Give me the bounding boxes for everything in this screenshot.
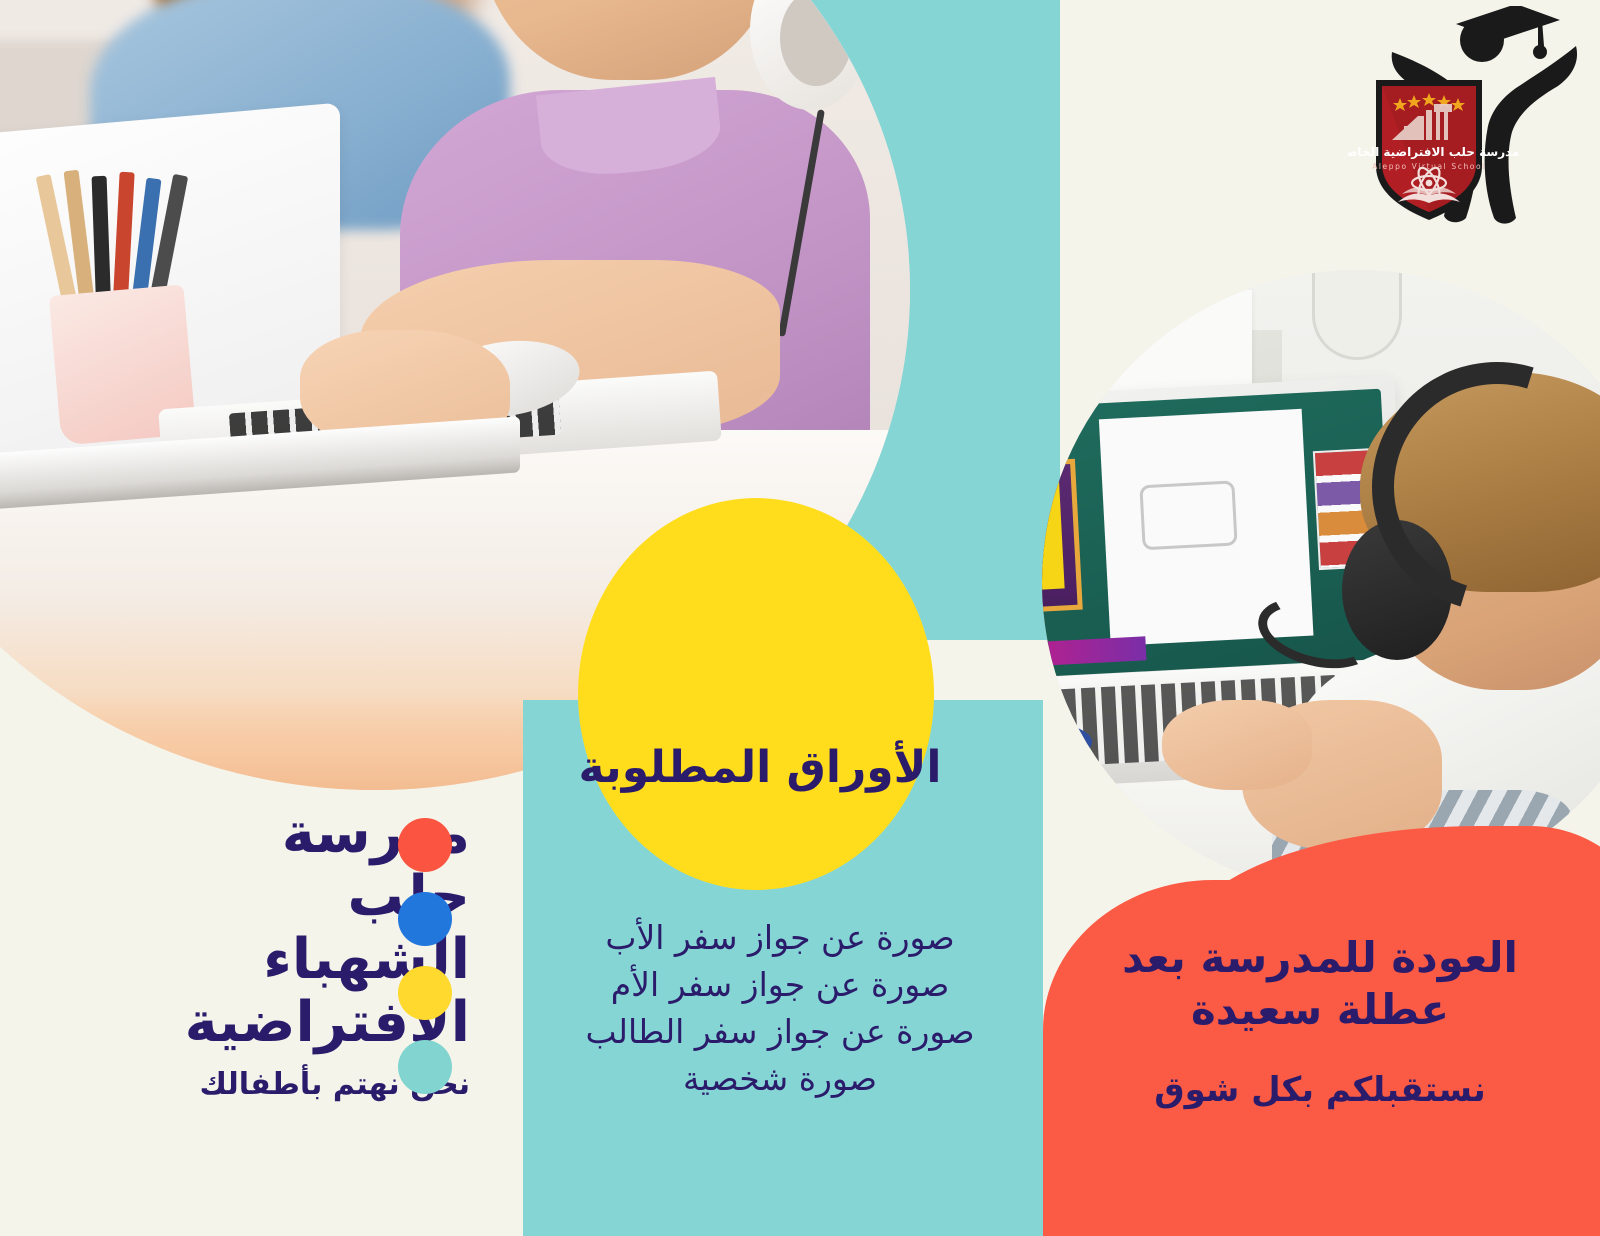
list-item: صورة شخصية <box>540 1056 1020 1103</box>
dot-blue <box>398 892 452 946</box>
dot-teal <box>398 1040 452 1094</box>
photo-right-screen-strip <box>1042 636 1147 670</box>
photo-right-lamp <box>1312 270 1402 360</box>
poster-canvas: مدرسة حلب الافتراضية الخاصة Aleppo Virtu… <box>0 0 1600 1236</box>
welcome-subtitle: نستقبلكم بكل شوق <box>1060 1070 1580 1110</box>
graduate-right-arm <box>1485 46 1577 224</box>
welcome-block: العودة للمدرسة بعد عطلة سعيدة نستقبلكم ب… <box>1060 932 1580 1110</box>
photo-boy-with-headset <box>1042 270 1600 895</box>
documents-title-circle <box>578 498 934 890</box>
list-item: صورة عن جواز سفر الطالب <box>540 1009 1020 1056</box>
dot-red <box>398 818 452 872</box>
photo-right-sticky-note <box>1042 322 1110 400</box>
photo-right-child-hand <box>1162 700 1312 790</box>
documents-title: الأوراق المطلوبة <box>550 742 970 793</box>
list-item: صورة عن جواز سفر الأم <box>540 962 1020 1009</box>
dot-yellow <box>398 966 452 1020</box>
list-item: صورة عن جواز سفر الأب <box>540 915 1020 962</box>
school-logo: مدرسة حلب الافتراضية الخاصة Aleppo Virtu… <box>1348 6 1588 226</box>
crest-english-text: Aleppo Virtual School <box>1372 162 1486 171</box>
photo-right-screen-image <box>1042 459 1082 616</box>
color-dots <box>398 818 452 1094</box>
welcome-title: العودة للمدرسة بعد عطلة سعيدة <box>1060 932 1580 1036</box>
documents-list: صورة عن جواز سفر الأب صورة عن جواز سفر ا… <box>540 915 1020 1102</box>
crest-arabic-text: مدرسة حلب الافتراضية الخاصة <box>1348 145 1519 159</box>
graduate-tassel <box>1533 45 1547 59</box>
